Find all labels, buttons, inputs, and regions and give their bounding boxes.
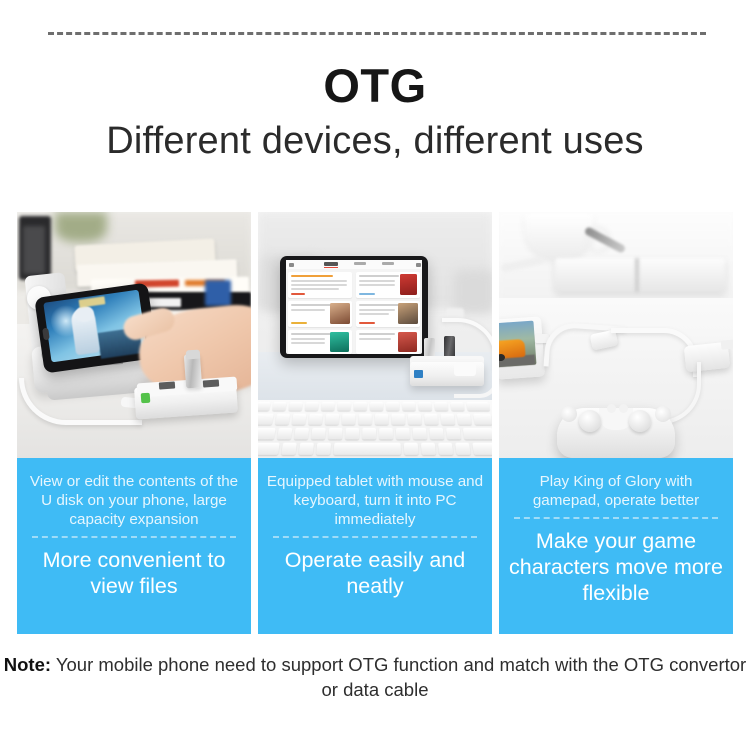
photo3-gamepad-left-stick bbox=[579, 410, 601, 432]
page-header: OTG Different devices, different uses bbox=[0, 58, 750, 164]
photo2-app-tab-underline bbox=[324, 267, 338, 268]
photo2-card-thumbnail bbox=[330, 332, 349, 352]
caption-1-description: View or edit the contents of the U disk … bbox=[25, 472, 243, 529]
photo2-card-line bbox=[291, 309, 325, 311]
photo3-notebook-spine bbox=[635, 258, 639, 292]
photo2-card-line bbox=[359, 275, 399, 277]
photo2-app-tab-active bbox=[324, 262, 338, 266]
footer-note-label: Note: bbox=[4, 654, 51, 675]
feature-column-3: Play King of Glory with gamepad, operate… bbox=[499, 212, 733, 637]
photo3-gamepad-select-button bbox=[607, 404, 616, 413]
photo2-app-menu-icon bbox=[289, 263, 294, 267]
photo1-hub-led bbox=[141, 393, 151, 404]
photo2-card-line bbox=[359, 304, 399, 306]
photo2-card-line bbox=[291, 304, 331, 306]
caption-1-divider bbox=[32, 536, 237, 538]
photo2-card-thumbnail bbox=[400, 274, 417, 295]
photo2-card-thumbnail bbox=[330, 303, 350, 324]
photo2-card-line bbox=[359, 313, 389, 315]
feature-caption-3: Play King of Glory with gamepad, operate… bbox=[499, 458, 733, 634]
page-subtitle: Different devices, different uses bbox=[0, 118, 750, 164]
caption-1-headline: More convenient to view files bbox=[25, 547, 243, 599]
photo2-keyboard-row bbox=[258, 428, 492, 440]
photo3-gamepad-buttons bbox=[655, 406, 671, 422]
photo3-gamepad-dpad bbox=[561, 406, 577, 422]
photo2-keyboard-row bbox=[258, 414, 492, 425]
photo1-book-blue bbox=[205, 280, 231, 306]
photo1-usb-drive-cap bbox=[186, 350, 201, 360]
photo2-card-meta bbox=[291, 322, 307, 324]
photo2-card-line bbox=[291, 288, 339, 290]
photo2-app-search-icon bbox=[416, 263, 421, 267]
photo1-usb-port-2 bbox=[203, 379, 219, 387]
product-feature-page: OTG Different devices, different uses bbox=[0, 0, 750, 750]
photo2-app-tab-2 bbox=[354, 262, 366, 265]
photo1-plant-blur bbox=[55, 212, 107, 242]
feature-caption-2: Equipped tablet with mouse and keyboard,… bbox=[258, 458, 492, 634]
photo2-cable-lower bbox=[454, 372, 492, 398]
photo3-gamepad-start-button bbox=[619, 404, 628, 413]
caption-2-description: Equipped tablet with mouse and keyboard,… bbox=[266, 472, 484, 529]
photo2-card-line bbox=[291, 333, 331, 335]
photo2-card-line bbox=[291, 284, 347, 286]
feature-columns: View or edit the contents of the U disk … bbox=[17, 212, 733, 637]
photo2-card-line bbox=[359, 333, 395, 335]
footer-note-text: Your mobile phone need to support OTG fu… bbox=[51, 654, 746, 700]
photo2-card-meta bbox=[359, 322, 375, 324]
photo3-gamepad-center bbox=[599, 408, 633, 430]
caption-3-divider bbox=[514, 517, 719, 519]
photo2-card-line bbox=[359, 338, 391, 340]
feature-column-1: View or edit the contents of the U disk … bbox=[17, 212, 251, 637]
photo1-dark-device-face bbox=[23, 226, 45, 274]
page-title: OTG bbox=[0, 58, 750, 114]
footer-note: Note: Your mobile phone need to support … bbox=[0, 652, 750, 702]
photo2-card-meta bbox=[359, 293, 375, 295]
photo2-keyboard-row bbox=[258, 402, 490, 411]
photo2-card-line bbox=[291, 342, 325, 344]
photo2-keyboard-row bbox=[258, 443, 492, 455]
photo3-notebook bbox=[555, 258, 725, 292]
photo3-gamepad-right-stick bbox=[629, 410, 651, 432]
photo2-card-line bbox=[359, 309, 395, 311]
feature-column-2: Equipped tablet with mouse and keyboard,… bbox=[258, 212, 492, 637]
photo2-card-tag bbox=[291, 275, 333, 277]
feature-caption-1: View or edit the contents of the U disk … bbox=[17, 458, 251, 634]
photo2-card-line bbox=[291, 338, 325, 340]
caption-3-description: Play King of Glory with gamepad, operate… bbox=[507, 472, 725, 510]
photo2-app-tab-3 bbox=[382, 262, 394, 265]
top-dashed-divider bbox=[48, 32, 706, 35]
photo2-hub-led bbox=[414, 370, 423, 378]
photo3-usb-adapter-plug bbox=[721, 339, 733, 350]
photo2-card-line bbox=[291, 280, 347, 282]
feature-photo-phone-gamepad bbox=[499, 212, 733, 458]
feature-photo-tablet-keyboard bbox=[258, 212, 492, 458]
caption-3-headline: Make your game characters move more flex… bbox=[507, 528, 725, 606]
photo2-keyboard bbox=[258, 400, 492, 458]
photo1-usb-port-1 bbox=[159, 381, 175, 389]
photo2-card-line bbox=[359, 280, 395, 282]
photo2-card-thumbnail bbox=[398, 303, 418, 324]
feature-photo-dock-phone bbox=[17, 212, 251, 458]
caption-2-divider bbox=[273, 536, 478, 538]
photo2-card-thumbnail bbox=[398, 332, 417, 352]
caption-2-headline: Operate easily and neatly bbox=[266, 547, 484, 599]
photo2-card-meta bbox=[291, 293, 305, 295]
photo2-card-line bbox=[359, 284, 395, 286]
